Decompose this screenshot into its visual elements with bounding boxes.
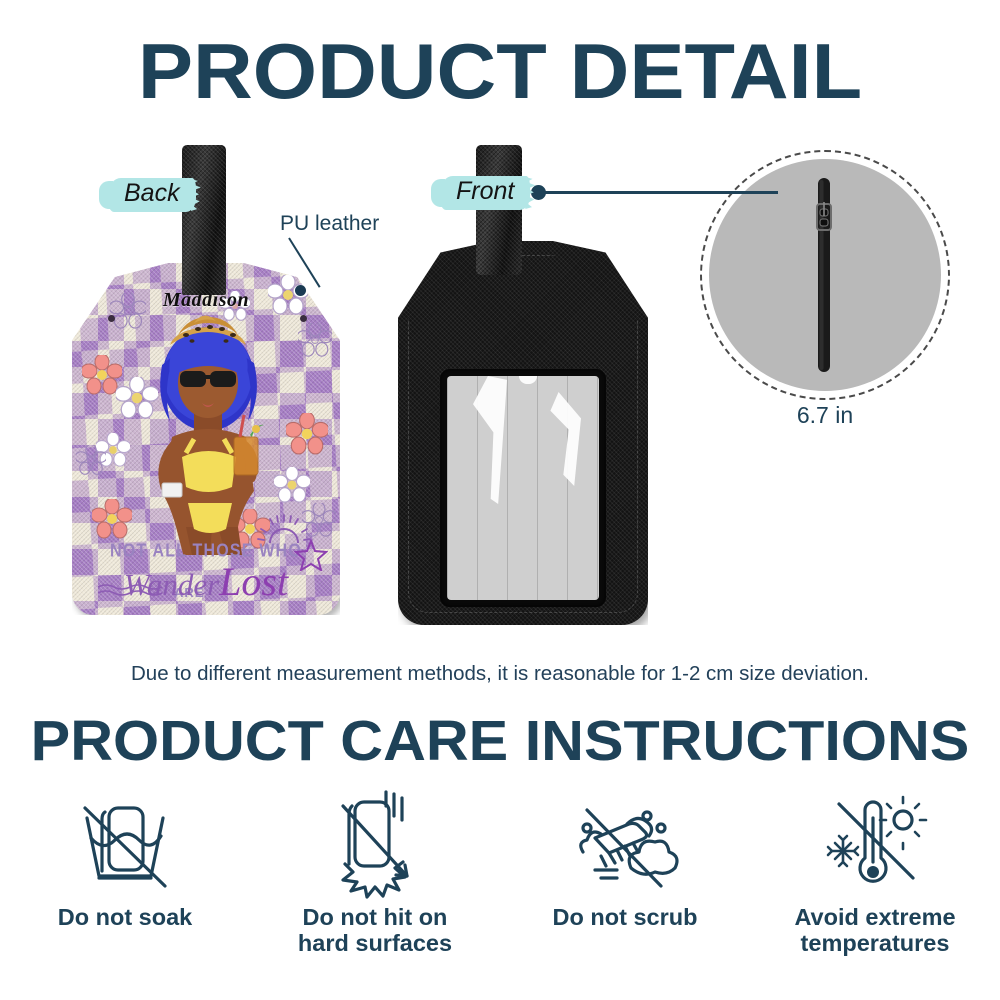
front-tag-body xyxy=(398,241,648,625)
rivet-hole xyxy=(300,315,307,322)
label-front-view: Front xyxy=(440,174,530,210)
flower-icon xyxy=(76,445,106,475)
no-soak-icon xyxy=(65,790,185,900)
address-card xyxy=(447,376,599,600)
sun-icon xyxy=(256,513,312,547)
rivet-hole xyxy=(108,315,115,322)
page-title: PRODUCT DETAIL xyxy=(0,26,1000,117)
care-instructions-row: Do not soak Do not hit on hard surfaces xyxy=(0,790,1000,990)
quote-line-2: WanderLost xyxy=(78,563,334,601)
leather-strap-buckle-icon xyxy=(813,176,835,374)
label-front-text: Front xyxy=(456,177,514,205)
front-strap xyxy=(476,145,522,275)
care-item-no-extreme-temp: Avoid extreme temperatures xyxy=(750,790,1000,957)
care-label-no-impact: Do not hit on hard surfaces xyxy=(298,904,452,957)
no-impact-icon xyxy=(315,790,435,900)
callout-anchor-dot xyxy=(295,285,306,296)
luggage-tag-front-view xyxy=(398,145,648,625)
care-label-no-scrub: Do not scrub xyxy=(553,904,698,930)
care-label-no-extreme-temp: Avoid extreme temperatures xyxy=(794,904,955,957)
tag-window xyxy=(440,369,606,607)
flower-icon xyxy=(286,413,328,455)
back-strap xyxy=(182,145,226,295)
label-back-view: Back xyxy=(108,176,196,212)
care-item-no-scrub: Do not scrub xyxy=(500,790,750,930)
measurement-disclaimer: Due to different measurement methods, it… xyxy=(0,662,1000,686)
quote-word-wander: Wander xyxy=(124,567,219,602)
strap-size-label: 6.7 in xyxy=(700,402,950,429)
care-label-no-soak: Do not soak xyxy=(58,904,192,930)
care-item-no-soak: Do not soak xyxy=(0,790,250,930)
no-scrub-icon xyxy=(565,790,685,900)
callout-pu-leather: PU leather xyxy=(280,212,379,236)
strap-detail-callout xyxy=(700,150,950,400)
care-item-no-impact: Do not hit on hard surfaces xyxy=(250,790,500,957)
back-tag-body: Maddison NOT ALL THOSE WHO WanderLost AR… xyxy=(72,263,340,615)
card-lines xyxy=(447,376,599,600)
quote-word-lost: Lost xyxy=(219,559,288,604)
flower-icon xyxy=(298,323,332,357)
no-extreme-temp-icon xyxy=(815,790,935,900)
product-detail-page: PRODUCT DETAIL xyxy=(0,0,1000,1000)
label-back-text: Back xyxy=(124,179,180,207)
flower-icon xyxy=(92,499,132,539)
tag-quote: NOT ALL THOSE WHO WanderLost ARE xyxy=(78,543,334,601)
front-leader-line xyxy=(540,191,778,194)
care-section-title: PRODUCT CARE INSTRUCTIONS xyxy=(0,708,1000,774)
